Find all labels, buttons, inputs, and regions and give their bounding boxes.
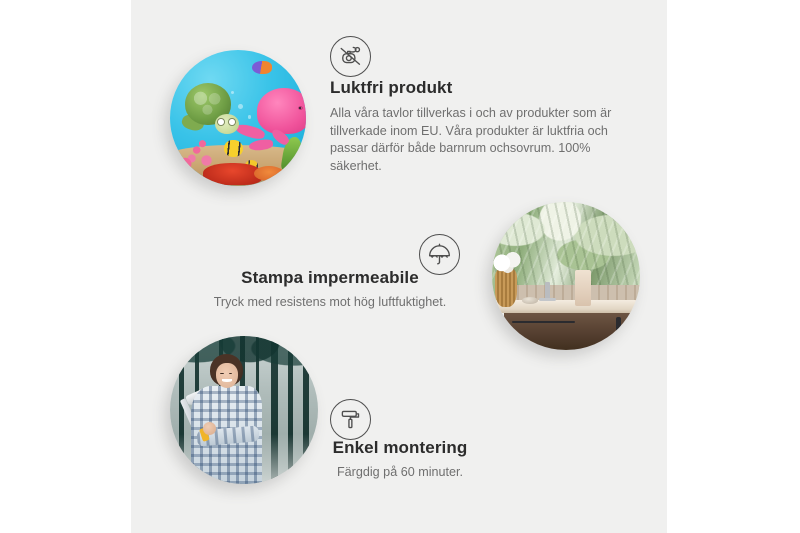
underwater-kids-scene-photo xyxy=(170,50,306,186)
rolled-towel xyxy=(575,270,591,306)
feature-text-easy-mounting: Enkel montering Färgdig på 60 minuter. xyxy=(300,438,500,482)
bathroom-vanity-photo xyxy=(492,202,640,350)
aquarium-artwork xyxy=(170,50,306,186)
feature-heading: Luktfri produkt xyxy=(330,78,620,98)
face xyxy=(216,363,238,388)
gold-vase xyxy=(495,269,517,307)
faucet xyxy=(545,282,549,301)
feature-body: Alla våra tavlor tillverkas i och av pro… xyxy=(330,105,620,175)
bubble-icon xyxy=(231,91,234,94)
feature-heading: Enkel montering xyxy=(300,438,500,458)
promo-infographic: Luktfri produkt Alla våra tavlor tillver… xyxy=(0,0,800,533)
orange-shell xyxy=(254,166,284,181)
pink-octopus xyxy=(257,88,306,134)
bubble-icon xyxy=(238,104,243,109)
painter-artwork xyxy=(170,336,318,484)
no-odour-spray-bottle-icon xyxy=(330,36,371,77)
eye xyxy=(220,373,224,375)
octopus-eye xyxy=(298,106,303,110)
eye xyxy=(229,373,233,375)
feature-body: Färgdig på 60 minuter. xyxy=(300,464,500,481)
feature-text-waterproof-print: Stampa impermeabile Tryck med resistens … xyxy=(190,268,470,312)
smile xyxy=(222,379,233,382)
wooden-cabinet xyxy=(504,313,640,350)
paint-roller-icon xyxy=(330,399,371,440)
feature-body: Tryck med resistens mot hög luftfuktighe… xyxy=(190,294,470,311)
painter-woman-forest-photo xyxy=(170,336,318,484)
soap-dish xyxy=(522,297,538,304)
purple-fish xyxy=(252,61,272,75)
bathroom-artwork xyxy=(492,202,640,350)
bubble-icon xyxy=(248,115,252,119)
hand xyxy=(203,422,216,435)
white-flowers xyxy=(492,251,523,273)
feature-text-odour-free: Luktfri produkt Alla våra tavlor tillver… xyxy=(330,78,620,175)
feature-heading: Stampa impermeabile xyxy=(190,268,470,288)
